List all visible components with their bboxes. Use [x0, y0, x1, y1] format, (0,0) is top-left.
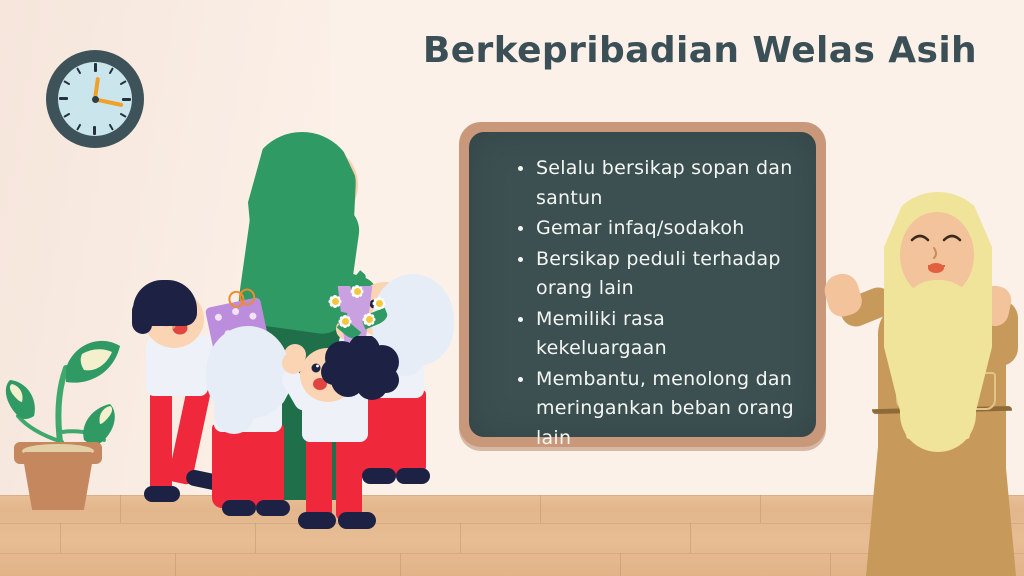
- flower-icon-5: [356, 306, 382, 332]
- girl-left-hijab-drape: [214, 372, 254, 434]
- plant-pot: [22, 452, 94, 510]
- boy-curly-hair-icon: [318, 336, 414, 416]
- boy-gift-sideburn: [132, 300, 152, 334]
- page-title: Berkepribadian Welas Asih: [420, 28, 980, 74]
- girl-right-shoe-left: [362, 468, 396, 484]
- boy-curly-leg-left: [306, 430, 332, 520]
- list-item: Selalu bersikap sopan dan santun: [517, 154, 798, 213]
- list-item: Gemar infaq/sodakoh: [517, 214, 798, 244]
- boy-curly-shoe-left: [298, 512, 336, 529]
- boy-curly-shoe-right: [338, 512, 376, 529]
- girl-right-shoe-right: [396, 468, 430, 484]
- clock-face: [58, 62, 132, 136]
- potted-plant: [4, 330, 124, 510]
- flower-icon-4: [332, 308, 358, 334]
- blackboard-surface: Selalu bersikap sopan dan santun Gemar i…: [469, 132, 816, 437]
- girl-left-shoe-left: [222, 500, 256, 516]
- blackboard-frame: Selalu bersikap sopan dan santun Gemar i…: [459, 122, 826, 447]
- boy-gift-leg-left: [150, 388, 172, 496]
- girl-left-shoe-right: [256, 500, 290, 516]
- list-item: Bersikap peduli terhadap orang lain: [517, 245, 798, 304]
- blackboard-list: Selalu bersikap sopan dan santun Gemar i…: [517, 154, 798, 454]
- wall-clock: [46, 50, 144, 148]
- list-item: Memiliki rasa kekeluargaan: [517, 305, 798, 364]
- clock-center-pin: [92, 96, 99, 103]
- list-item: Membantu, menolong dan meringankan beban…: [517, 365, 798, 454]
- boy-curly-leg-right: [336, 430, 362, 520]
- teacher-hijab-front: [900, 280, 976, 452]
- girl-left-skirt: [212, 424, 284, 508]
- boy-gift-shoe-left: [144, 486, 180, 502]
- slide-canvas: Berkepribadian Welas Asih Selalu bersika…: [0, 0, 1024, 576]
